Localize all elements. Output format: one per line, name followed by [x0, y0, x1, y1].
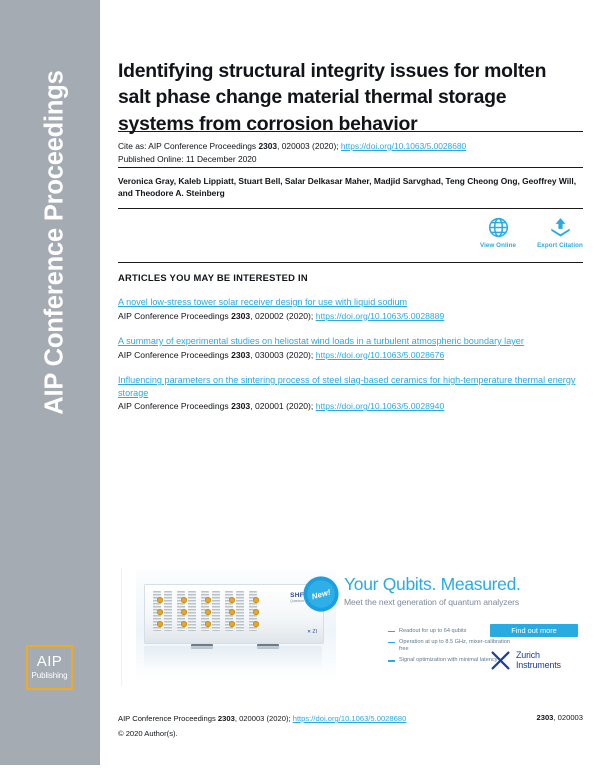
globe-icon — [470, 216, 526, 240]
main-content-column: Identifying structural integrity issues … — [118, 0, 583, 776]
divider-above-related — [118, 262, 583, 263]
divider-under-citation — [118, 167, 583, 168]
find-out-more-button[interactable]: Find out more — [490, 624, 578, 637]
divider-under-title — [118, 131, 583, 132]
related-source: AIP Conference Proceedings — [118, 350, 229, 360]
related-article-item: Influencing parameters on the sintering … — [118, 374, 583, 413]
related-article-citation: AIP Conference Proceedings 2303, 030003 … — [118, 349, 583, 361]
export-citation-label: Export Citation — [532, 242, 588, 249]
quantum-analyzer-device-image: SHFQA Quantum Analyzer ✕ ZI — [144, 584, 324, 644]
advertisement-banner[interactable]: SHFQA Quantum Analyzer ✕ ZI New! — [121, 568, 584, 686]
ad-product-photo: SHFQA Quantum Analyzer ✕ ZI New! — [136, 570, 336, 682]
related-article-title[interactable]: Influencing parameters on the sintering … — [118, 374, 583, 399]
footer-page-reference: 2303, 020003 — [537, 713, 583, 722]
view-online-label: View Online — [470, 242, 526, 249]
journal-name-vertical: AIP Conference Proceedings — [41, 8, 70, 478]
zurich-brand-text: Zurich Instruments — [516, 650, 561, 671]
related-articles-list: A novel low-stress tower solar receiver … — [118, 296, 583, 426]
footer-right-article: 020003 — [558, 713, 583, 722]
related-doi-link[interactable]: https://doi.org/10.1063/5.0028889 — [316, 311, 445, 321]
related-volume: 2303 — [231, 401, 250, 411]
footer-citation: AIP Conference Proceedings 2303, 020003 … — [118, 713, 583, 724]
related-article-title[interactable]: A novel low-stress tower solar receiver … — [118, 296, 583, 309]
footer-source: AIP Conference Proceedings — [118, 714, 216, 723]
article-title: Identifying structural integrity issues … — [118, 58, 580, 138]
journal-side-band: AIP Conference Proceedings AIP Publishin… — [0, 0, 100, 765]
cite-prefix: Cite as: AIP Conference Proceedings — [118, 141, 256, 151]
footer-right-volume: 2303 — [537, 713, 554, 722]
footer-year: (2020); — [267, 714, 291, 723]
related-article-number: 020002 — [255, 311, 284, 321]
related-year: (2020); — [286, 401, 313, 411]
related-source: AIP Conference Proceedings — [118, 401, 229, 411]
ad-subheadline: Meet the next generation of quantum anal… — [344, 597, 580, 607]
related-doi-link[interactable]: https://doi.org/10.1063/5.0028676 — [316, 350, 445, 360]
view-online-action[interactable]: View Online — [470, 216, 526, 249]
related-year: (2020); — [286, 350, 313, 360]
related-article-title[interactable]: A summary of experimental studies on hel… — [118, 335, 583, 348]
cite-article-number: 020003 — [282, 141, 310, 151]
divider-under-authors — [118, 208, 583, 209]
related-doi-link[interactable]: https://doi.org/10.1063/5.0028940 — [316, 401, 445, 411]
related-source: AIP Conference Proceedings — [118, 311, 229, 321]
export-citation-action[interactable]: Export Citation — [532, 216, 588, 249]
ad-headline: Your Qubits. Measured. — [344, 574, 580, 594]
article-doi-link[interactable]: https://doi.org/10.1063/5.0028680 — [341, 141, 466, 151]
related-article-number: 030003 — [255, 350, 284, 360]
published-online-line: Published Online: 11 December 2020 — [118, 153, 583, 166]
zurich-x-icon — [490, 650, 511, 671]
device-reflection — [144, 646, 322, 668]
device-zurich-mark: ✕ ZI — [307, 629, 317, 635]
footer-volume: 2303 — [218, 714, 235, 723]
related-volume: 2303 — [231, 350, 250, 360]
new-badge: New! — [302, 575, 340, 613]
device-front-panel — [151, 591, 277, 631]
related-article-item: A novel low-stress tower solar receiver … — [118, 296, 583, 322]
article-cover-page: AIP Conference Proceedings AIP Publishin… — [0, 0, 600, 776]
related-articles-heading: ARTICLES YOU MAY BE INTERESTED IN — [118, 272, 583, 283]
footer-doi-link[interactable]: https://doi.org/10.1063/5.0028680 — [293, 714, 407, 723]
author-list: Veronica Gray, Kaleb Lippiatt, Stuart Be… — [118, 175, 583, 200]
action-icon-row: View Online Export Citation — [118, 212, 583, 256]
related-article-citation: AIP Conference Proceedings 2303, 020002 … — [118, 310, 583, 322]
related-article-item: A summary of experimental studies on hel… — [118, 335, 583, 361]
aip-publishing-logo: AIP Publishing — [26, 645, 73, 690]
export-citation-icon — [532, 216, 588, 240]
ad-copy-area: Your Qubits. Measured. Meet the next gen… — [344, 574, 580, 682]
aip-logo-publishing-text: Publishing — [28, 671, 71, 680]
citation-block: Cite as: AIP Conference Proceedings 2303… — [118, 140, 583, 165]
related-year: (2020); — [286, 311, 313, 321]
related-article-citation: AIP Conference Proceedings 2303, 020001 … — [118, 400, 583, 412]
citation-line: Cite as: AIP Conference Proceedings 2303… — [118, 140, 583, 153]
aip-logo-aip-text: AIP — [28, 653, 71, 670]
zurich-instruments-logo: Zurich Instruments — [490, 646, 584, 674]
related-volume: 2303 — [231, 311, 250, 321]
related-article-number: 020001 — [255, 401, 284, 411]
cite-volume: 2303 — [258, 141, 277, 151]
footer-article-number: 020003 — [239, 714, 264, 723]
cite-year: (2020); — [312, 141, 339, 151]
copyright-notice: © 2020 Author(s). — [118, 729, 178, 738]
